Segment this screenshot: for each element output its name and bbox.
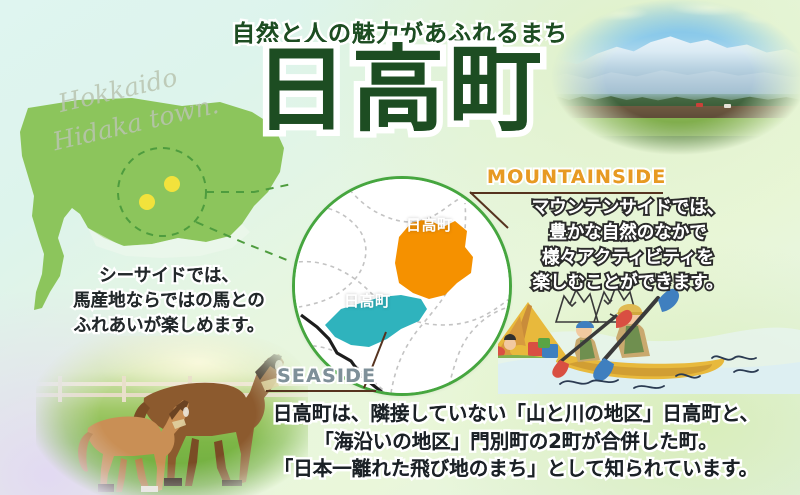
summary-line-3-fill: 「日本一離れた飛び地のまち」として知られています。 <box>238 455 794 483</box>
mountainside-line-3-fill: 様々アクティビティを <box>508 246 748 271</box>
seaside-body: シーサイドでは、 馬産地ならではの馬との ふれあいが楽しめます。 <box>36 264 302 339</box>
seaside-line-1-fill: シーサイドでは、 <box>36 264 302 289</box>
location-marker-sea <box>139 194 155 210</box>
seaside-line-2-fill: 馬産地ならではの馬との <box>36 289 302 314</box>
mountainside-line-4-fill: 楽しむことができます。 <box>508 271 748 296</box>
summary-text: 日高町は、隣接していない「山と川の地区」日高町と、 「海沿いの地区」門別町の2町… <box>238 400 794 483</box>
seaside-line-3-fill: ふれあいが楽しめます。 <box>36 314 302 339</box>
mountainside-underline <box>470 192 663 194</box>
mountainside-line-2-fill: 豊かな自然のなかで <box>508 221 748 246</box>
mountainside-line-1-fill: マウンテンサイドでは、 <box>508 196 748 221</box>
mountainside-label: MOUNTAINSIDE <box>487 166 666 188</box>
seaside-label: SEASIDE <box>277 365 376 387</box>
poster-canvas: 日高町 日高町 <box>0 0 800 495</box>
summary-line-1-fill: 日高町は、隣接していない「山と川の地区」日高町と、 <box>238 400 794 428</box>
map-label-mountain-region: 日高町 <box>406 214 453 235</box>
location-marker-mountain <box>164 176 180 192</box>
seaside-underline <box>266 390 376 392</box>
town-title: 日高町 <box>0 44 800 137</box>
summary-line-2-fill: 「海沿いの地区」門別町の2町が合併した町。 <box>238 428 794 456</box>
field-green-dark <box>548 136 800 160</box>
map-label-sea-region: 日高町 <box>344 290 391 311</box>
mountainside-body: マウンテンサイドでは、 豊かな自然のなかで 様々アクティビティを 楽しむことがで… <box>508 196 748 295</box>
